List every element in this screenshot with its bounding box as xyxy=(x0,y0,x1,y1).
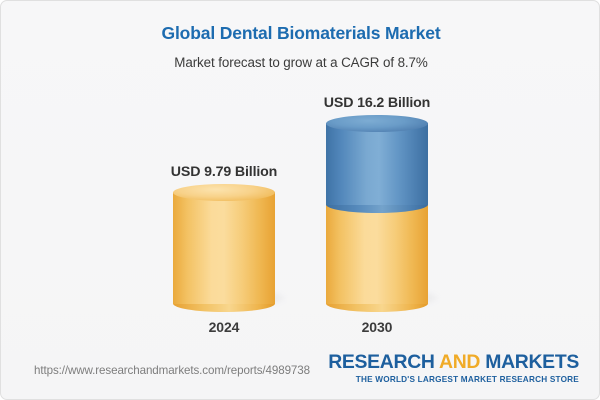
logo-wordmark: RESEARCH AND MARKETS xyxy=(328,352,579,372)
cylinder-body xyxy=(326,204,428,304)
bar-segment-base-2030 xyxy=(326,204,428,304)
logo-word-markets: MARKETS xyxy=(485,351,579,373)
source-url[interactable]: https://www.researchandmarkets.com/repor… xyxy=(34,364,310,377)
cylinder-body xyxy=(326,123,428,205)
logo-tagline: THE WORLD'S LARGEST MARKET RESEARCH STOR… xyxy=(328,375,579,384)
chart-plot-area: USD 9.79 Billion 2024 USD 16.2 Billion xyxy=(1,1,600,346)
cylinder-2030 xyxy=(326,123,428,304)
cylinder-body xyxy=(173,192,275,304)
bar-group-2030[interactable]: USD 16.2 Billion 2030 xyxy=(326,1,428,346)
cylinder-2024 xyxy=(173,192,275,304)
chart-footer: https://www.researchandmarkets.com/repor… xyxy=(1,344,600,399)
cylinder-top-cap xyxy=(173,184,275,201)
bar-group-2024[interactable]: USD 9.79 Billion 2024 xyxy=(173,1,275,346)
research-and-markets-logo[interactable]: RESEARCH AND MARKETS THE WORLD'S LARGEST… xyxy=(328,352,579,384)
bar-segment-growth-2030 xyxy=(326,123,428,205)
bar-segment-base-2024 xyxy=(173,192,275,304)
bar-category-label-2030: 2030 xyxy=(267,319,487,335)
logo-word-research: RESEARCH xyxy=(328,351,434,373)
logo-word-and: AND xyxy=(439,351,480,373)
cylinder-top-cap xyxy=(326,115,428,132)
chart-card: Global Dental Biomaterials Market Market… xyxy=(0,0,600,400)
bar-value-label-2030: USD 16.2 Billion xyxy=(267,95,487,111)
bar-value-label-2024: USD 9.79 Billion xyxy=(114,164,334,180)
